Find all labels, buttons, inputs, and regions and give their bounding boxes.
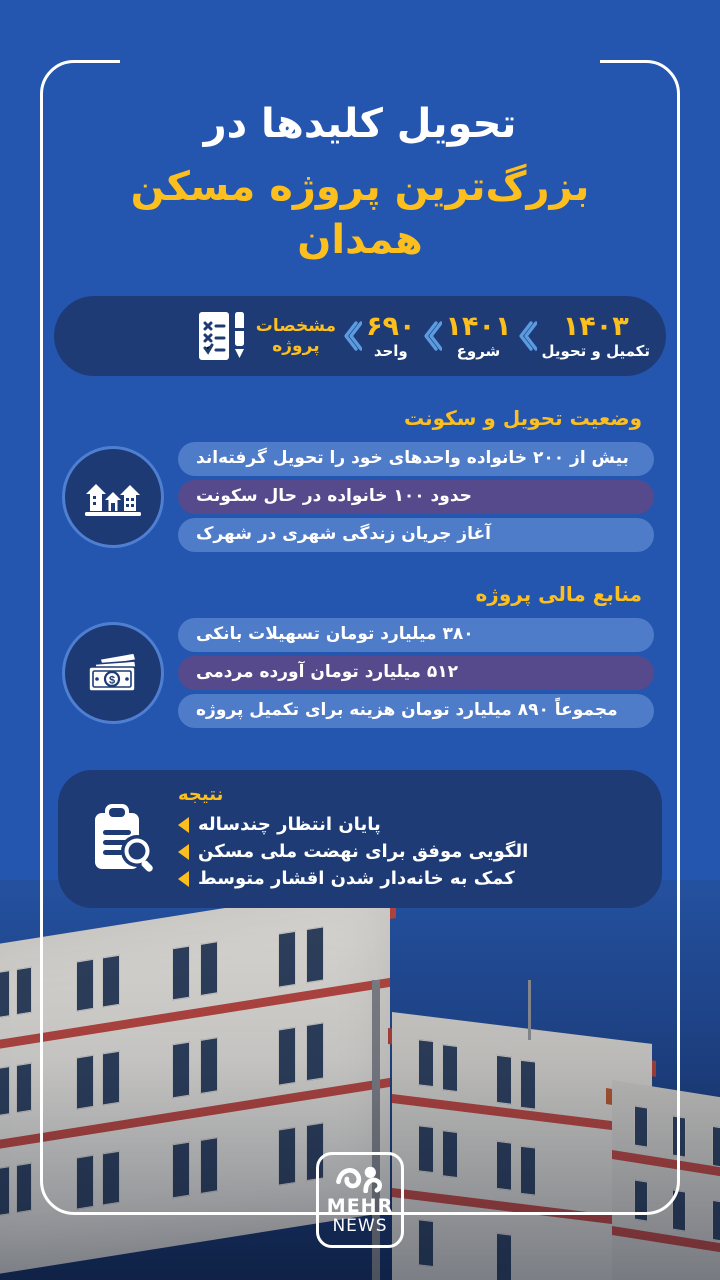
spec-item-2: ۱۴۰۳ تکمیل و تحویل: [539, 313, 652, 361]
infographic-poster: تحویل کلیدها در بزرگ‌ترین پروژه مسکن همد…: [0, 0, 720, 1280]
section-heading-1: منابع مالی پروژه: [40, 582, 642, 606]
spec-item-1: ۱۴۰۱ شروع: [444, 313, 514, 361]
spec-caption: واحد: [374, 344, 408, 360]
title-line-1: تحویل کلیدها در: [62, 98, 658, 151]
spec-item-0: ۶۹۰ واحد: [364, 313, 417, 361]
section-0-bars: بیش از ۲۰۰ خانواده واحدهای خود را تحویل …: [174, 442, 654, 552]
section-heading-0: وضعیت تحویل و سکونت: [40, 406, 642, 430]
triangle-bullet-icon: [178, 817, 189, 833]
banknotes-icon: $: [62, 622, 164, 724]
title-line-2: بزرگ‌ترین پروژه مسکن همدان: [62, 161, 658, 267]
mehr-news-logo-icon: [334, 1163, 386, 1193]
bar-item: حدود ۱۰۰ خانواده در حال سکونت: [178, 480, 654, 514]
result-title: نتیجه: [178, 784, 223, 805]
result-item-text: پایان انتظار چندساله: [198, 814, 381, 835]
triangle-bullet-icon: [178, 871, 189, 887]
logo-line-1: MEHR: [327, 1197, 393, 1216]
result-item-text: کمک به خانه‌دار شدن اقشار متوسط: [198, 868, 515, 889]
section-0: بیش از ۲۰۰ خانواده واحدهای خود را تحویل …: [62, 442, 654, 552]
bar-item: مجموعاً ۸۹۰ میلیارد تومان هزینه برای تکم…: [178, 694, 654, 728]
result-item: کمک به خانه‌دار شدن اقشار متوسط: [178, 868, 515, 889]
chevron-left-icon-1: [418, 320, 444, 352]
bar-item: آغاز جریان زندگی شهری در شهرک: [178, 518, 654, 552]
result-item: پایان انتظار چندساله: [178, 814, 381, 835]
spec-value: ۶۹۰: [366, 313, 415, 342]
spec-value: ۱۴۰۱: [446, 313, 512, 342]
chevron-left-icon-2: [513, 320, 539, 352]
bar-item: بیش از ۲۰۰ خانواده واحدهای خود را تحویل …: [178, 442, 654, 476]
section-1: ۳۸۰ میلیارد تومان تسهیلات بانکی ۵۱۲ میلی…: [62, 618, 654, 728]
spec-caption: تکمیل و تحویل: [541, 344, 650, 360]
clipboard-checklist-icon: [192, 305, 254, 367]
bar-item: ۵۱۲ میلیارد تومان آورده مردمی: [178, 656, 654, 690]
page-title: تحویل کلیدها در بزرگ‌ترین پروژه مسکن همد…: [40, 98, 680, 266]
poster-content: تحویل کلیدها در بزرگ‌ترین پروژه مسکن همد…: [40, 60, 680, 908]
result-body: نتیجه پایان انتظار چندساله الگویی موفق ب…: [172, 784, 646, 892]
svg-text:$: $: [109, 675, 115, 687]
project-specs-bar: ۱۴۰۳ تکمیل و تحویل ۱۴۰۱ شروع ۶۹۰: [54, 296, 666, 376]
clipboard-magnifier-icon: [74, 789, 172, 887]
spec-caption: شروع: [457, 344, 501, 360]
bar-item: ۳۸۰ میلیارد تومان تسهیلات بانکی: [178, 618, 654, 652]
specs-label-line-1: مشخصات: [256, 317, 336, 335]
section-1-bars: ۳۸۰ میلیارد تومان تسهیلات بانکی ۵۱۲ میلی…: [174, 618, 654, 728]
chevron-left-icon-0: [338, 320, 364, 352]
result-item-text: الگویی موفق برای نهضت ملی مسکن: [198, 841, 528, 862]
mehr-news-logo: MEHR NEWS: [316, 1152, 404, 1248]
result-card: نتیجه پایان انتظار چندساله الگویی موفق ب…: [58, 770, 662, 908]
result-item: الگویی موفق برای نهضت ملی مسکن: [178, 841, 528, 862]
spec-value: ۱۴۰۳: [563, 313, 629, 342]
triangle-bullet-icon: [178, 844, 189, 860]
three-houses-icon: [62, 446, 164, 548]
specs-label-line-2: پروژه: [272, 337, 319, 355]
specs-label: مشخصات پروژه: [254, 317, 338, 355]
logo-line-2: NEWS: [332, 1218, 387, 1235]
